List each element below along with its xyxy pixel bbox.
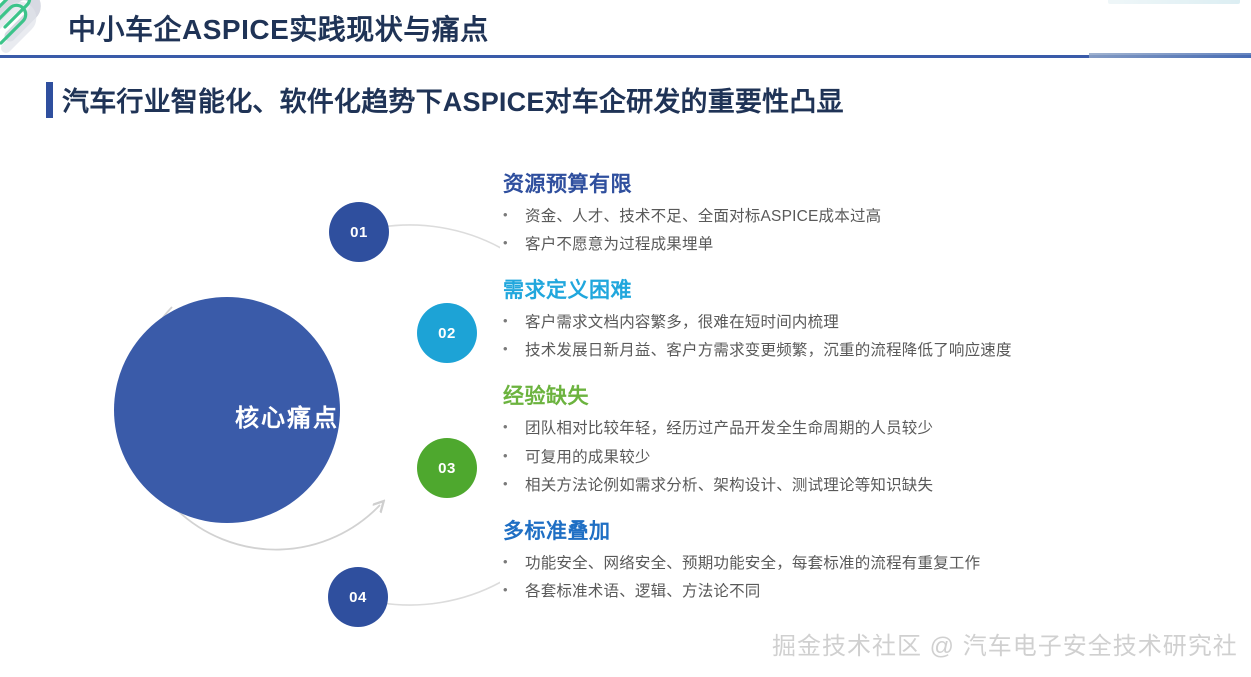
painpoint-list: 资源预算有限 • 资金、人才、技术不足、全面对标ASPICE成本过高 • 客户不… <box>503 168 1203 621</box>
watermark-text: 掘金技术社区 @ 汽车电子安全技术研究社 <box>772 626 1238 661</box>
bullet-dot-icon: • <box>503 473 525 494</box>
bullet-dot-icon: • <box>503 310 525 331</box>
bullet-dot-icon: • <box>503 445 525 466</box>
bullet-item: • 各套标准术语、逻辑、方法论不同 <box>503 579 1203 604</box>
bullet-dot-icon: • <box>503 416 525 437</box>
bullet-text: 功能安全、网络安全、预期功能安全，每套标准的流程有重复工作 <box>525 551 1203 576</box>
painpoint-block-1: 资源预算有限 • 资金、人才、技术不足、全面对标ASPICE成本过高 • 客户不… <box>503 168 1203 257</box>
bubble-03-label: 03 <box>438 460 456 477</box>
core-circle <box>114 297 340 523</box>
bullet-dot-icon: • <box>503 551 525 572</box>
bullet-text: 技术发展日新月益、客户方需求变更频繁，沉重的流程降低了响应速度 <box>525 338 1203 363</box>
painpoint-block-4: 多标准叠加 • 功能安全、网络安全、预期功能安全，每套标准的流程有重复工作 • … <box>503 515 1203 604</box>
subtitle-text: 汽车行业智能化、软件化趋势下ASPICE对车企研发的重要性凸显 <box>62 80 844 119</box>
header-teal-tab <box>1108 0 1240 4</box>
painpoint-title-1: 资源预算有限 <box>503 168 1203 198</box>
bubble-04[interactable]: 04 <box>328 567 388 627</box>
bullet-item: • 可复用的成果较少 <box>503 445 1203 470</box>
bullet-dot-icon: • <box>503 579 525 600</box>
diagram-rings <box>60 150 500 650</box>
bullet-item: • 客户不愿意为过程成果埋单 <box>503 232 1203 257</box>
page-title: 中小车企ASPICE实践现状与痛点 <box>68 8 489 48</box>
slide-header: 中小车企ASPICE实践现状与痛点 <box>0 0 1251 58</box>
bubble-02[interactable]: 02 <box>417 303 477 363</box>
bubble-01-label: 01 <box>350 224 368 241</box>
header-divider-accent <box>1089 53 1251 58</box>
bullet-text: 客户需求文档内容繁多，很难在短时间内梳理 <box>525 310 1203 335</box>
bubble-02-label: 02 <box>438 325 456 342</box>
slide-root: 中小车企ASPICE实践现状与痛点 汽车行业智能化、软件化趋势下ASPICE对车… <box>0 0 1251 677</box>
bullet-item: • 技术发展日新月益、客户方需求变更频繁，沉重的流程降低了响应速度 <box>503 338 1203 363</box>
bullet-text: 相关方法论例如需求分析、架构设计、测试理论等知识缺失 <box>525 473 1203 498</box>
bullet-item: • 客户需求文档内容繁多，很难在短时间内梳理 <box>503 310 1203 335</box>
section-subtitle: 汽车行业智能化、软件化趋势下ASPICE对车企研发的重要性凸显 <box>46 80 844 119</box>
bullet-item: • 资金、人才、技术不足、全面对标ASPICE成本过高 <box>503 204 1203 229</box>
bullet-text: 资金、人才、技术不足、全面对标ASPICE成本过高 <box>525 204 1203 229</box>
bullet-text: 团队相对比较年轻，经历过产品开发全生命周期的人员较少 <box>525 416 1203 441</box>
bullet-item: • 功能安全、网络安全、预期功能安全，每套标准的流程有重复工作 <box>503 551 1203 576</box>
subtitle-accent-bar <box>46 82 53 118</box>
painpoint-block-3: 经验缺失 • 团队相对比较年轻，经历过产品开发全生命周期的人员较少 • 可复用的… <box>503 380 1203 497</box>
painpoint-block-2: 需求定义困难 • 客户需求文档内容繁多，很难在短时间内梳理 • 技术发展日新月益… <box>503 274 1203 363</box>
header-divider-line <box>0 55 1251 58</box>
bullet-text: 各套标准术语、逻辑、方法论不同 <box>525 579 1203 604</box>
bubble-03[interactable]: 03 <box>417 438 477 498</box>
bullet-item: • 相关方法论例如需求分析、架构设计、测试理论等知识缺失 <box>503 473 1203 498</box>
bullet-dot-icon: • <box>503 338 525 359</box>
bullet-text: 客户不愿意为过程成果埋单 <box>525 232 1203 257</box>
painpoint-title-2: 需求定义困难 <box>503 274 1203 304</box>
painpoint-title-4: 多标准叠加 <box>503 515 1203 545</box>
core-painpoints-diagram: 核心痛点 01 02 03 04 <box>60 150 500 650</box>
bullet-text: 可复用的成果较少 <box>525 445 1203 470</box>
paperclip-icon <box>0 0 58 56</box>
bullet-dot-icon: • <box>503 232 525 253</box>
bubble-01[interactable]: 01 <box>329 202 389 262</box>
painpoint-title-3: 经验缺失 <box>503 380 1203 410</box>
bubble-04-label: 04 <box>349 589 367 606</box>
bullet-dot-icon: • <box>503 204 525 225</box>
bullet-item: • 团队相对比较年轻，经历过产品开发全生命周期的人员较少 <box>503 416 1203 441</box>
